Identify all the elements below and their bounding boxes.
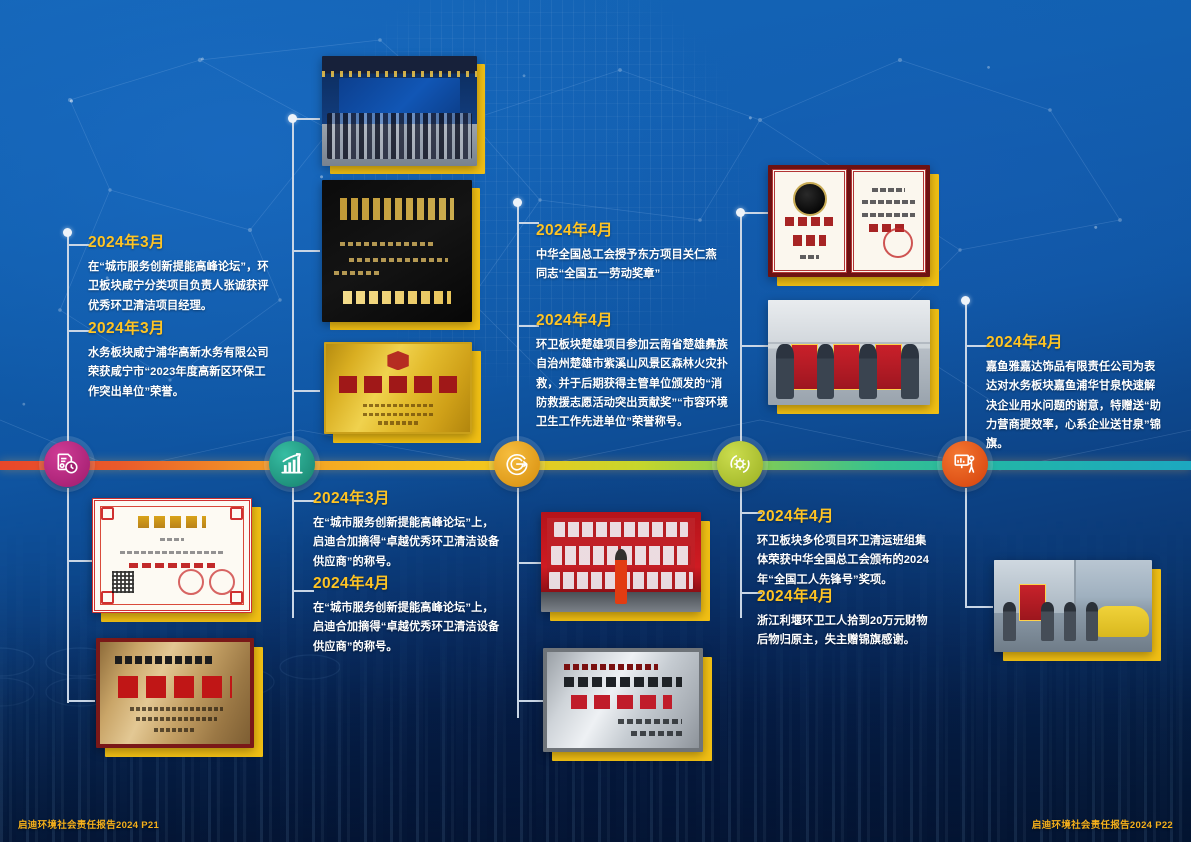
connector-line bbox=[965, 488, 967, 608]
pioneer-medal-emblem bbox=[793, 182, 827, 216]
entry-date: 2024年4月 bbox=[986, 334, 1166, 351]
connector-line bbox=[67, 488, 69, 703]
timeline-bar bbox=[0, 461, 1191, 470]
entry-5: 2024年4月 中华全国总工会授予东方项目关仁燕同志“全国五一劳动奖章” bbox=[536, 222, 726, 285]
timeline-node-1[interactable] bbox=[44, 441, 90, 487]
entry-8: 2024年4月 浙江利堰环卫工人拾到20万元财物后物归原主，失主赠锦旗感谢。 bbox=[757, 588, 937, 651]
indoor-wall bbox=[768, 300, 930, 344]
connector-line bbox=[67, 560, 92, 562]
plaque-subline bbox=[378, 421, 418, 424]
plaque-content bbox=[96, 638, 254, 748]
connector-line bbox=[740, 488, 742, 618]
plaque-line bbox=[349, 258, 448, 262]
photo-content bbox=[994, 560, 1152, 652]
certificate-left-leaf bbox=[772, 169, 847, 273]
connector-line bbox=[517, 202, 519, 462]
entry-1: 2024年3月 在“城市服务创新提能高峰论坛”，环卫板块咸宁分类项目负责人张诚获… bbox=[88, 234, 276, 316]
footer-left: 启迪环境社会责任报告2024 P21 bbox=[18, 817, 159, 831]
person bbox=[1086, 602, 1099, 641]
timeline-node-2[interactable] bbox=[269, 441, 315, 487]
certificate-corner bbox=[101, 507, 114, 520]
connector-line bbox=[67, 244, 89, 246]
plaque-title bbox=[343, 291, 451, 304]
entry-text: 浙江利堰环卫工人拾到20万元财物后物归原主，失主赠锦旗感谢。 bbox=[757, 612, 937, 651]
plaque-date-line bbox=[631, 731, 683, 736]
entry-4: 2024年4月 在“城市服务创新提能高峰论坛”上，启迪合加摘得“卓越优秀环卫清洁… bbox=[313, 575, 501, 657]
person bbox=[901, 344, 919, 399]
plaque-issuer-line bbox=[130, 707, 223, 711]
fire-rescue-contribution-plaque[interactable] bbox=[543, 648, 703, 752]
entry-text: 中华全国总工会授予东方项目关仁燕同志“全国五一劳动奖章” bbox=[536, 246, 726, 285]
plaque-logo bbox=[340, 198, 454, 219]
certificate-line bbox=[800, 255, 819, 259]
connector-line bbox=[965, 606, 993, 608]
plaque-content bbox=[324, 342, 472, 434]
connector-dot bbox=[63, 228, 72, 237]
plaque-date-line bbox=[154, 728, 196, 732]
timeline-node-5[interactable] bbox=[942, 441, 988, 487]
connector-line bbox=[740, 345, 770, 347]
person bbox=[1041, 602, 1054, 641]
certificate-line bbox=[872, 188, 905, 192]
entry-date: 2024年3月 bbox=[313, 490, 501, 507]
certificate-seal bbox=[883, 228, 913, 258]
entry-text: 在“城市服务创新提能高峰论坛”上，启迪合加摘得“卓越优秀环卫清洁设备供应商”的称… bbox=[313, 599, 501, 657]
target-arrow-icon bbox=[504, 451, 530, 477]
plaque-subtitle bbox=[564, 677, 683, 687]
person bbox=[1003, 602, 1016, 641]
document-clock-icon bbox=[54, 451, 80, 477]
honor-banner bbox=[875, 344, 903, 390]
stage-lights bbox=[322, 71, 477, 77]
report-page-spread: 2024年3月 在“城市服务创新提能高峰论坛”，环卫板块咸宁分类项目负责人张诚获… bbox=[0, 0, 1191, 842]
timeline-node-4[interactable] bbox=[717, 441, 763, 487]
certificate-content bbox=[92, 498, 252, 613]
plaque-recipient-line bbox=[564, 664, 658, 671]
honor-banner bbox=[791, 344, 819, 390]
yellow-vehicle bbox=[1095, 606, 1149, 637]
certificate-line bbox=[120, 551, 225, 554]
person-in-red bbox=[615, 549, 628, 604]
footer-right: 启迪环境社会责任报告2024 P22 bbox=[1032, 817, 1173, 831]
portrait-row bbox=[554, 522, 688, 537]
entry-date: 2024年4月 bbox=[757, 508, 937, 525]
certificate-line bbox=[160, 538, 185, 541]
honor-banner bbox=[833, 344, 861, 390]
certificate-award-line bbox=[129, 563, 215, 568]
plaque-content bbox=[543, 648, 703, 752]
certificate-qr-code bbox=[112, 571, 134, 593]
gold-civilization-post-plaque[interactable] bbox=[324, 342, 472, 434]
plaque-title bbox=[571, 695, 671, 708]
connector-line bbox=[517, 562, 542, 564]
person bbox=[859, 344, 877, 399]
connector-line bbox=[292, 590, 314, 592]
person bbox=[776, 344, 794, 399]
black-supplier-plaque[interactable] bbox=[322, 180, 472, 322]
photo-content bbox=[322, 56, 477, 166]
gear-recycle-icon bbox=[727, 451, 753, 477]
entry-text: 环卫板块多伦项目环卫清运班组集体荣获中华全国总工会颁布的2024年“全国工人先锋… bbox=[757, 532, 937, 590]
plaque-issuer-line bbox=[136, 717, 217, 721]
certificate-title bbox=[138, 516, 206, 528]
person bbox=[817, 344, 835, 399]
connector-dot bbox=[513, 198, 522, 207]
certificate-corner bbox=[230, 591, 243, 604]
bar-chart-growth-icon bbox=[279, 451, 305, 477]
plaque-title bbox=[118, 676, 232, 698]
connector-line bbox=[67, 700, 95, 702]
person bbox=[1064, 602, 1077, 641]
certificate-seal bbox=[209, 569, 235, 595]
connector-line bbox=[517, 488, 519, 718]
entry-date: 2024年4月 bbox=[313, 575, 501, 592]
entry-text: 在“城市服务创新提能高峰论坛”上，启迪合加摘得“卓越优秀环卫清洁设备供应商”的称… bbox=[313, 514, 501, 572]
outstanding-unit-plaque[interactable] bbox=[96, 638, 254, 748]
plaque-content bbox=[322, 180, 472, 322]
certificate-right-leaf bbox=[851, 169, 926, 273]
photo-content bbox=[768, 300, 930, 405]
forum-group-photo[interactable] bbox=[322, 56, 477, 166]
award-ceremony-photo[interactable] bbox=[541, 512, 701, 612]
connector-line bbox=[292, 250, 320, 252]
certificate-line bbox=[862, 213, 914, 217]
connector-line bbox=[292, 500, 314, 502]
connector-line bbox=[740, 212, 742, 462]
plaque-line bbox=[340, 242, 433, 246]
entry-date: 2024年4月 bbox=[757, 588, 937, 605]
plaque-issuer-line bbox=[618, 719, 682, 724]
entry-date: 2024年3月 bbox=[88, 320, 276, 337]
certificate-line bbox=[862, 200, 914, 204]
entry-7: 2024年4月 环卫板块多伦项目环卫清运班组集体荣获中华全国总工会颁布的2024… bbox=[757, 508, 937, 590]
entry-text: 在“城市服务创新提能高峰论坛”，环卫板块咸宁分类项目负责人张诚获评优秀环卫清洁项… bbox=[88, 258, 276, 316]
outdoor-banner-photo[interactable] bbox=[994, 560, 1152, 652]
photo-content bbox=[541, 512, 701, 612]
connector-dot bbox=[288, 114, 297, 123]
connector-line bbox=[292, 118, 294, 463]
connector-line bbox=[517, 700, 543, 702]
banner-handover-photo[interactable] bbox=[768, 300, 930, 405]
plaque-subline bbox=[363, 404, 432, 407]
entry-date: 2024年3月 bbox=[88, 234, 276, 251]
entry-9: 2024年4月 嘉鱼雅嘉达饰品有限责任公司为表达对水务板块嘉鱼浦华甘泉快速解决企… bbox=[986, 334, 1166, 454]
certificate-content bbox=[768, 165, 930, 277]
entry-text: 水务板块咸宁浦华高新水务有限公司荣获咸宁市“2023年度高新区环保工作突出单位”… bbox=[88, 344, 276, 402]
connector-line bbox=[292, 390, 320, 392]
plaque-subtitle bbox=[115, 656, 214, 664]
certificate-word bbox=[793, 235, 826, 246]
certificate-corner bbox=[230, 507, 243, 520]
worker-pioneer-certificate[interactable] bbox=[768, 165, 930, 277]
entry-2: 2024年3月 水务板块咸宁浦华高新水务有限公司荣获咸宁市“2023年度高新区环… bbox=[88, 320, 276, 402]
group-of-people bbox=[327, 113, 473, 159]
connector-dot bbox=[736, 208, 745, 217]
entry-text: 环卫板块楚雄项目参加云南省楚雄彝族自治州楚雄市紫溪山风景区森林火灾扑救，并于后期… bbox=[536, 336, 732, 432]
plaque-emblem bbox=[387, 351, 409, 370]
plaque-line bbox=[334, 271, 379, 275]
certificate-corner bbox=[101, 591, 114, 604]
connector-line bbox=[67, 232, 69, 462]
connector-line bbox=[965, 300, 967, 462]
plaque-title bbox=[339, 376, 457, 394]
connector-line bbox=[67, 330, 89, 332]
certificate-seal bbox=[178, 569, 204, 595]
connector-dot bbox=[961, 296, 970, 305]
honor-certificate[interactable] bbox=[92, 498, 252, 613]
connector-line bbox=[292, 488, 294, 618]
entry-3: 2024年3月 在“城市服务创新提能高峰论坛”上，启迪合加摘得“卓越优秀环卫清洁… bbox=[313, 490, 501, 572]
entry-text: 嘉鱼雅嘉达饰品有限责任公司为表达对水务板块嘉鱼浦华甘泉快速解决企业用水问题的谢意… bbox=[986, 358, 1166, 454]
presentation-person-icon bbox=[952, 451, 978, 477]
plaque-subline bbox=[363, 413, 432, 416]
entry-date: 2024年4月 bbox=[536, 312, 732, 329]
entry-6: 2024年4月 环卫板块楚雄项目参加云南省楚雄彝族自治州楚雄市紫溪山风景区森林火… bbox=[536, 312, 732, 432]
certificate-award-name bbox=[785, 217, 835, 226]
timeline-node-3[interactable] bbox=[494, 441, 540, 487]
entry-date: 2024年4月 bbox=[536, 222, 726, 239]
